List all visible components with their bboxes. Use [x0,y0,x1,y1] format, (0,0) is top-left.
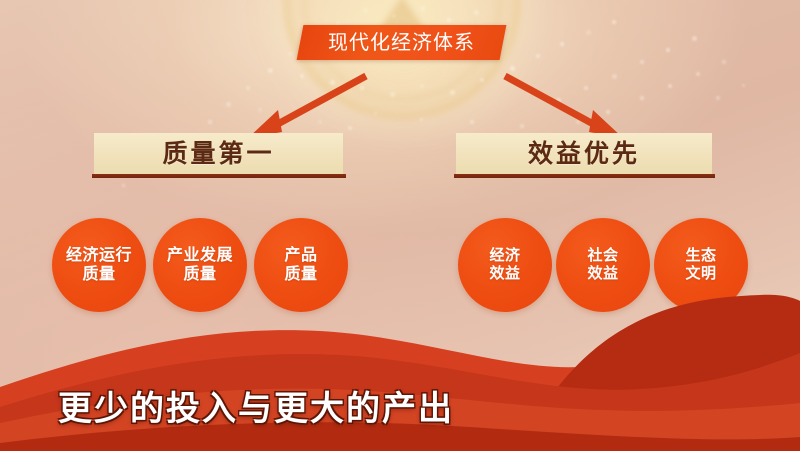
branch-heading-efficiency-first: 效益优先 [456,133,712,175]
title-banner-label: 现代化经济体系 [300,25,503,60]
bubble-label: 产品 质量 [284,246,317,284]
branch-heading-underline-left [92,174,346,178]
bubble-label: 经济 效益 [489,247,520,282]
emblem-glow [255,0,555,150]
branch-heading-quality-first: 质量第一 [94,133,343,175]
bubble-label: 产业发展 质量 [167,246,233,284]
bubble-label: 经济运行 质量 [66,246,132,284]
branch-heading-underline-right [454,174,715,178]
bubble-label: 生态 文明 [685,247,716,282]
title-banner: 现代化经济体系 [297,25,507,60]
branch-heading-label: 效益优先 [456,133,712,175]
bubble-label: 社会 效益 [587,247,618,282]
slide-canvas: 现代化经济体系 质量第一 效益优先 经济运行 质量 产业发展 质量 产品 质量 … [0,0,800,451]
caption-text: 更少的投入与更大的产出 [58,381,454,430]
branch-heading-label: 质量第一 [94,133,343,175]
